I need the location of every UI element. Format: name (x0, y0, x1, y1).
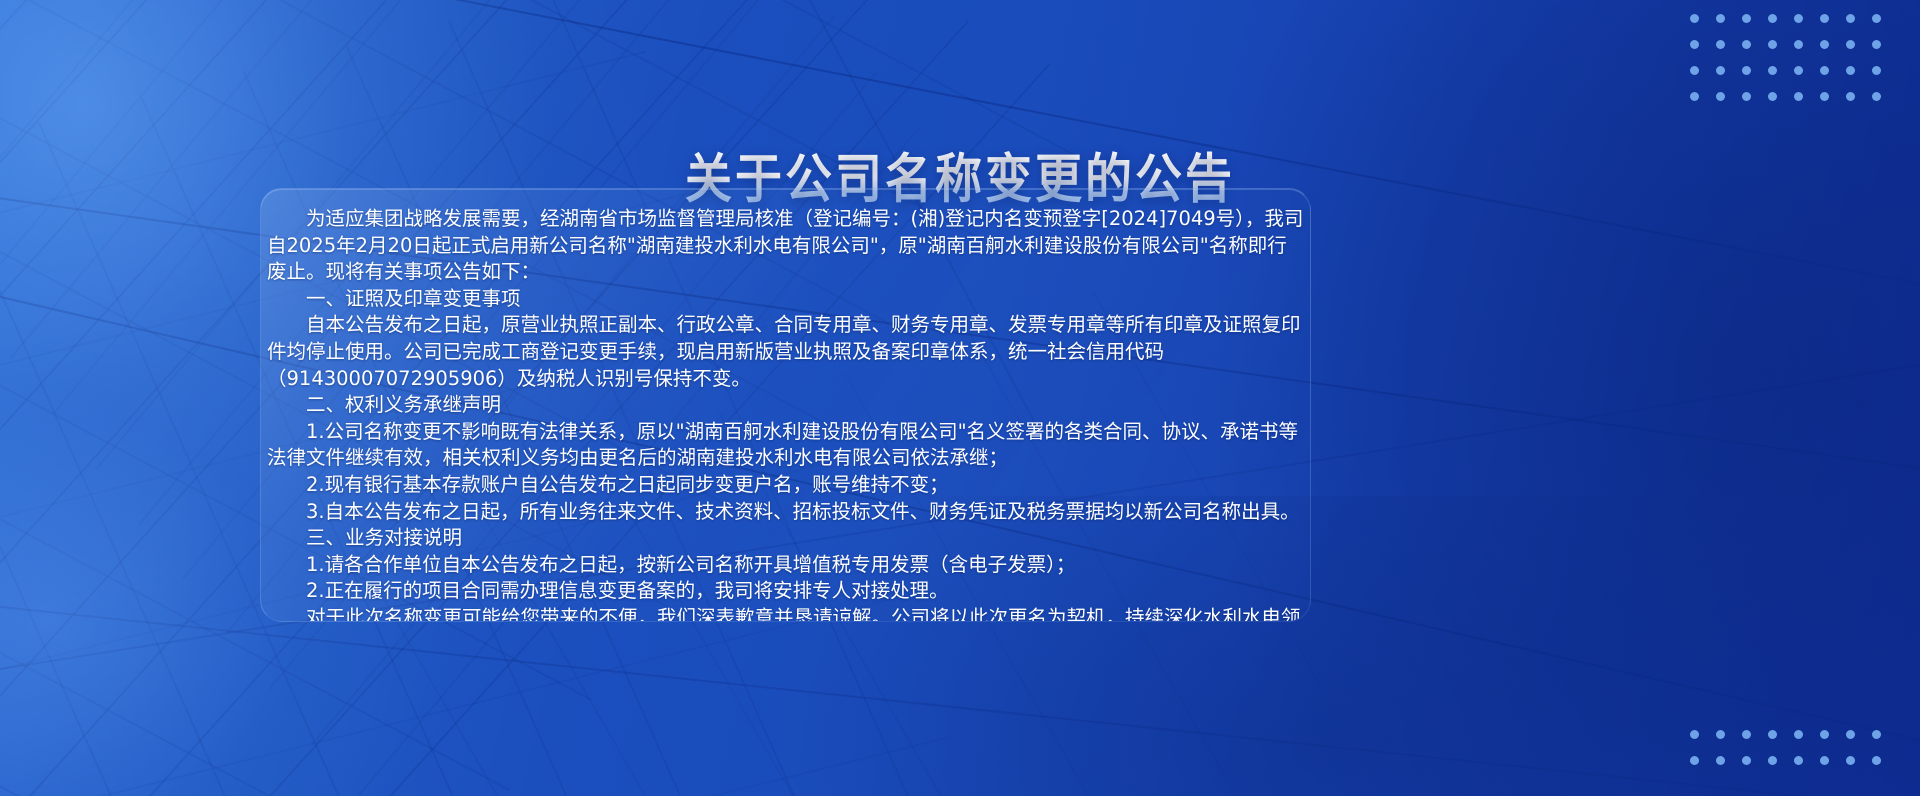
decorative-dot (1794, 730, 1803, 739)
announcement-paragraph: 二、权利义务承继声明 (267, 392, 1304, 419)
decorative-dot (1846, 730, 1855, 739)
decorative-dot (1846, 92, 1855, 101)
decorative-dot (1716, 40, 1725, 49)
decorative-dot (1820, 756, 1829, 765)
decorative-dot (1716, 14, 1725, 23)
decorative-dot (1820, 730, 1829, 739)
decorative-dot (1846, 66, 1855, 75)
decorative-dot (1794, 66, 1803, 75)
announcement-paragraph: 一、证照及印章变更事项 (267, 286, 1304, 313)
dot-row (1690, 66, 1898, 92)
announcement-paragraph: 三、业务对接说明 (267, 525, 1304, 552)
announcement-paragraph: 1.请各合作单位自本公告发布之日起，按新公司名称开具增值税专用发票（含电子发票）… (267, 552, 1304, 579)
decorative-dot (1794, 756, 1803, 765)
decorative-dot (1794, 40, 1803, 49)
decorative-dot (1742, 92, 1751, 101)
decorative-dot (1716, 66, 1725, 75)
decorative-dot (1716, 756, 1725, 765)
decorative-dot (1820, 92, 1829, 101)
decorative-dot (1690, 40, 1699, 49)
decorative-dot (1768, 66, 1777, 75)
decorative-dot (1872, 14, 1881, 23)
dot-row (1690, 730, 1898, 756)
dot-grid-top-right (1690, 14, 1898, 118)
decorative-dot (1742, 40, 1751, 49)
decorative-dot (1820, 66, 1829, 75)
decorative-dot (1742, 14, 1751, 23)
decorative-dot (1742, 730, 1751, 739)
announcement-banner: 关于公司名称变更的公告 为适应集团战略发展需要，经湖南省市场监督管理局核准（登记… (0, 0, 1920, 796)
announcement-paragraph: 1.公司名称变更不影响既有法律关系，原以"湖南百舸水利建设股份有限公司"名义签署… (267, 419, 1304, 472)
announcement-paragraph: 2.正在履行的项目合同需办理信息变更备案的，我司将安排专人对接处理。 (267, 578, 1304, 605)
decorative-dot (1768, 756, 1777, 765)
decorative-dot (1820, 40, 1829, 49)
decorative-dot (1742, 66, 1751, 75)
right-shadow-glow (1220, 0, 1920, 796)
decorative-dot (1872, 730, 1881, 739)
announcement-panel: 为适应集团战略发展需要，经湖南省市场监督管理局核准（登记编号：(湘)登记内名变预… (260, 188, 1311, 622)
decorative-dot (1872, 40, 1881, 49)
decorative-dot (1872, 756, 1881, 765)
decorative-dot (1768, 14, 1777, 23)
diagonal-line (0, 597, 1920, 796)
dot-row (1690, 756, 1898, 782)
decorative-dot (1768, 730, 1777, 739)
announcement-paragraph: 3.自本公告发布之日起，所有业务往来文件、技术资料、招标投标文件、财务凭证及税务… (267, 499, 1304, 526)
decorative-dot (1872, 66, 1881, 75)
decorative-dot (1768, 40, 1777, 49)
announcement-paragraph: 对于此次名称变更可能给您带来的不便，我们深表歉意并恳请谅解。公司将以此次更名为契… (267, 605, 1304, 622)
dot-grid-bottom-right (1690, 730, 1898, 782)
decorative-dot (1794, 14, 1803, 23)
decorative-dot (1768, 92, 1777, 101)
announcement-body: 为适应集团战略发展需要，经湖南省市场监督管理局核准（登记编号：(湘)登记内名变预… (261, 189, 1310, 622)
decorative-dot (1690, 66, 1699, 75)
decorative-dot (1716, 92, 1725, 101)
announcement-paragraph: 2.现有银行基本存款账户自公告发布之日起同步变更户名，账号维持不变； (267, 472, 1304, 499)
decorative-dot (1846, 14, 1855, 23)
dot-row (1690, 14, 1898, 40)
decorative-dot (1794, 92, 1803, 101)
decorative-dot (1846, 756, 1855, 765)
decorative-dot (1690, 756, 1699, 765)
decorative-dot (1690, 14, 1699, 23)
decorative-dot (1690, 730, 1699, 739)
announcement-paragraph: 为适应集团战略发展需要，经湖南省市场监督管理局核准（登记编号：(湘)登记内名变预… (267, 206, 1304, 286)
dot-row (1690, 92, 1898, 118)
decorative-dot (1820, 14, 1829, 23)
decorative-dot (1742, 756, 1751, 765)
decorative-dot (1846, 40, 1855, 49)
decorative-dot (1716, 730, 1725, 739)
dot-row (1690, 40, 1898, 66)
decorative-dot (1872, 92, 1881, 101)
decorative-dot (1690, 92, 1699, 101)
announcement-paragraph: 自本公告发布之日起，原营业执照正副本、行政公章、合同专用章、财务专用章、发票专用… (267, 312, 1304, 392)
